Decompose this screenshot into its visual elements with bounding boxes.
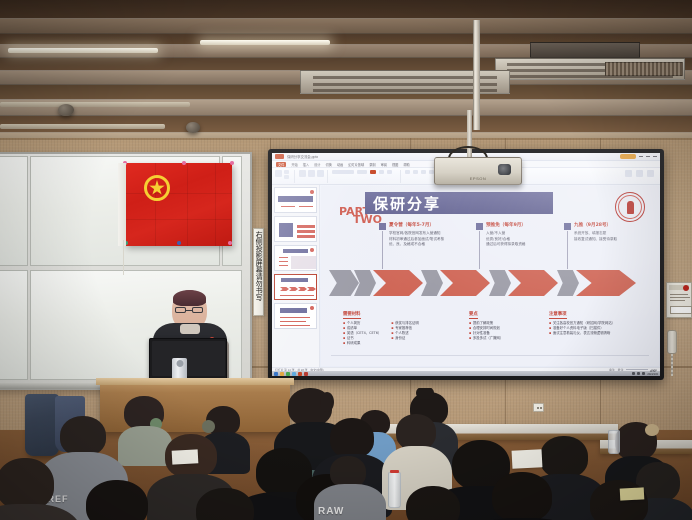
notebook-paper	[512, 449, 543, 469]
slide-title-text: 保研分享	[373, 193, 441, 214]
notes-list: 关注各高校官方通知（研招网/学院网站） 准备好个人资料电子版（扫描件） 面试注意…	[549, 321, 615, 336]
start-icon[interactable]	[274, 372, 278, 376]
notebook-paper	[620, 487, 645, 500]
ceiling-light-strip	[8, 48, 158, 53]
timeline-heading-1: 夏令营（每年5-7月）	[379, 222, 434, 230]
tab-animations[interactable]: 动画	[337, 162, 343, 167]
ceiling-column	[473, 20, 480, 130]
presenter-collar	[180, 324, 200, 334]
ceiling-projector: EPSON	[434, 157, 522, 185]
timeline-lines-3: 系统开放、填报志愿 接收复试通知、接受待录取	[574, 231, 617, 242]
process-arrow-gray	[489, 270, 511, 296]
youth-league-star-emblem	[144, 175, 170, 201]
materials-col-2: 获奖与排名证明 专家推荐信 个人陈述 身份证	[391, 321, 419, 347]
intercom-cord	[671, 354, 673, 376]
minimize-icon[interactable]	[639, 156, 643, 157]
warning-sign-left: 右侧投影屏幕请勿书写	[253, 228, 264, 316]
wall-notice-sheet	[666, 282, 692, 318]
tab-insert[interactable]: 插入	[303, 162, 309, 167]
detail-block-keypoints: 要点 提前了解政策 合理安排时间规划 针对性准备 多投多试（广撒网）	[469, 302, 503, 341]
font-family-select[interactable]	[332, 170, 354, 174]
tab-view[interactable]: 视图	[392, 162, 398, 167]
jacket-text-raw: RAW	[318, 506, 344, 517]
audience: UREF	[0, 388, 692, 520]
presenter-glasses-icon	[175, 307, 203, 313]
powerpoint-logo-icon	[275, 154, 284, 159]
tab-home[interactable]: 开始	[291, 162, 297, 167]
projector-lens-icon	[498, 164, 511, 175]
reset-button[interactable]	[317, 170, 324, 177]
find-button[interactable]	[625, 170, 632, 177]
timeline-heading-2: 预推免（每年9月）	[476, 222, 526, 230]
ceiling-speaker	[58, 104, 74, 116]
process-arrow-gray	[421, 270, 443, 296]
slide-thumbnail-active[interactable]	[274, 274, 317, 300]
pin	[228, 241, 232, 245]
warning-sign-left-text: 右侧投影屏幕请勿书写	[255, 231, 262, 301]
slide-thumbnail[interactable]	[274, 303, 317, 329]
zoom-slider[interactable]	[626, 369, 648, 370]
slide-thumbnail[interactable]	[274, 245, 317, 271]
process-arrow-red	[440, 270, 490, 296]
projector-brand-label: EPSON	[435, 176, 521, 181]
tab-file[interactable]: 文件	[276, 162, 286, 167]
account-badge[interactable]	[620, 154, 636, 159]
keypoints-list: 提前了解政策 合理安排时间规划 针对性准备 多投多试（广撒网）	[469, 321, 503, 341]
volume-icon[interactable]	[637, 372, 640, 375]
tab-review[interactable]: 审阅	[381, 162, 387, 167]
bottle-cap	[390, 470, 399, 473]
ppt-workspace: PART TWO 保研分享 夏令营（每年5-7月） 学校官网/各院官网发布	[272, 185, 660, 367]
part-label-2: TWO	[353, 214, 382, 225]
flag-hoist	[118, 163, 126, 246]
new-slide-button[interactable]	[299, 170, 306, 177]
timeline-lines-1: 学校官网/各院官网发布入营通知 材料初审通过后参加面试/笔试考核 优、良、及格或…	[389, 231, 444, 248]
process-arrow-red	[508, 270, 558, 296]
bullet-square-icon	[564, 223, 571, 230]
presenter-hair	[173, 290, 206, 306]
timeline-heading-3: 九推（9月28号）	[564, 222, 611, 230]
battery-icon[interactable]	[642, 372, 645, 375]
whiteboard-panel	[0, 270, 28, 380]
seal-torch-icon	[627, 201, 634, 214]
window-controls[interactable]	[620, 154, 657, 159]
process-arrow-gray	[557, 270, 579, 296]
university-seal-icon	[615, 192, 645, 222]
materials-col-1: 个人简历 成绩单 英语（CET4、CET6） 证书 科研成果	[343, 321, 381, 347]
detail-block-materials: 需要材料 个人简历 成绩单 英语（CET4、CET6） 证书 科研成果 获奖与排…	[343, 302, 419, 346]
taskbar-clock[interactable]: 14:32 2024/3/22	[647, 371, 658, 376]
pin	[177, 241, 181, 245]
pin	[230, 161, 234, 165]
whiteboard-panel	[0, 156, 28, 266]
align-left-button[interactable]	[405, 170, 410, 174]
layout-button[interactable]	[308, 170, 315, 177]
browser-icon[interactable]	[286, 372, 290, 376]
alert-dot-icon	[683, 285, 689, 291]
cup-lid	[176, 360, 183, 367]
slide-canvas[interactable]: PART TWO 保研分享 夏令营（每年5-7月） 学校官网/各院官网发布	[321, 186, 659, 366]
timeline-lines-2: 入营/不入营 优秀/良好/合格 通过后可获得拟录取资格	[486, 231, 526, 248]
chat-icon[interactable]	[292, 372, 296, 376]
process-arrow-red	[373, 270, 423, 296]
ceiling-light-strip	[200, 40, 330, 45]
italic-button[interactable]	[379, 170, 384, 174]
ceiling-speaker	[186, 122, 200, 133]
align-center-button[interactable]	[413, 170, 418, 174]
hvac-unit	[530, 42, 640, 58]
star-icon	[149, 180, 165, 196]
bullet-square-icon	[476, 223, 483, 230]
flag-string	[123, 240, 124, 275]
slide-thumbnail-pane[interactable]	[272, 185, 320, 367]
pin	[182, 161, 186, 165]
tab-design[interactable]: 设计	[314, 162, 320, 167]
podium-monitor[interactable]	[149, 338, 227, 380]
monitor-screen[interactable]	[152, 341, 225, 377]
process-arrow-red	[576, 270, 636, 296]
slide-title-banner: 保研分享	[365, 192, 553, 214]
slide-thumbnail[interactable]	[274, 187, 317, 213]
font-size-select[interactable]	[357, 170, 367, 174]
intercom-handset[interactable]	[667, 330, 677, 354]
select-button[interactable]	[647, 170, 654, 177]
underline-button[interactable]	[387, 170, 392, 174]
communist-youth-league-flag	[125, 163, 232, 246]
podium-top-surface	[96, 378, 294, 385]
bold-button[interactable]	[370, 170, 376, 174]
water-bottle	[608, 430, 620, 454]
ppt-filename: 保研分享交流会.pptx	[287, 154, 318, 159]
ceiling-light-strip	[0, 102, 190, 107]
notebook-paper	[172, 449, 199, 464]
windows-taskbar[interactable]: 14:32 2024/3/22	[272, 371, 660, 376]
detail-block-notes: 注意事项 关注各高校官方通知（研招网/学院网站） 准备好个人资料电子版（扫描件）…	[549, 302, 615, 336]
copy-button[interactable]	[284, 175, 289, 179]
bullet-square-icon	[379, 223, 386, 230]
projection-screen: 保研分享交流会.pptx 文件 开始 插入 设计 切换 动画 幻灯片放映 录制 …	[272, 153, 660, 376]
cut-button[interactable]	[284, 170, 289, 174]
process-arrow-gray	[329, 270, 359, 296]
maximize-icon[interactable]	[646, 156, 650, 157]
explorer-icon[interactable]	[280, 372, 284, 376]
tab-help[interactable]: 帮助	[403, 162, 409, 167]
network-icon[interactable]	[632, 372, 635, 375]
hvac-grille	[605, 62, 683, 76]
classroom-scene: 右侧投影屏幕请勿书写 左侧投影屏幕请勿书写 保研分享交流会.pptx	[0, 0, 692, 520]
align-right-button[interactable]	[421, 170, 426, 174]
water-bottle	[388, 472, 401, 508]
slide-thumbnail[interactable]	[274, 216, 317, 242]
paste-button[interactable]	[275, 170, 282, 177]
media-icon[interactable]	[304, 372, 308, 376]
close-icon[interactable]	[653, 156, 657, 157]
tab-record[interactable]: 录制	[369, 162, 375, 167]
ceiling-light-strip	[0, 124, 165, 129]
replace-button[interactable]	[636, 170, 643, 177]
tab-transitions[interactable]: 切换	[326, 162, 332, 167]
powerpoint-icon[interactable]	[298, 372, 302, 376]
tab-slideshow[interactable]: 幻灯片放映	[348, 162, 364, 167]
ceiling	[0, 0, 692, 150]
